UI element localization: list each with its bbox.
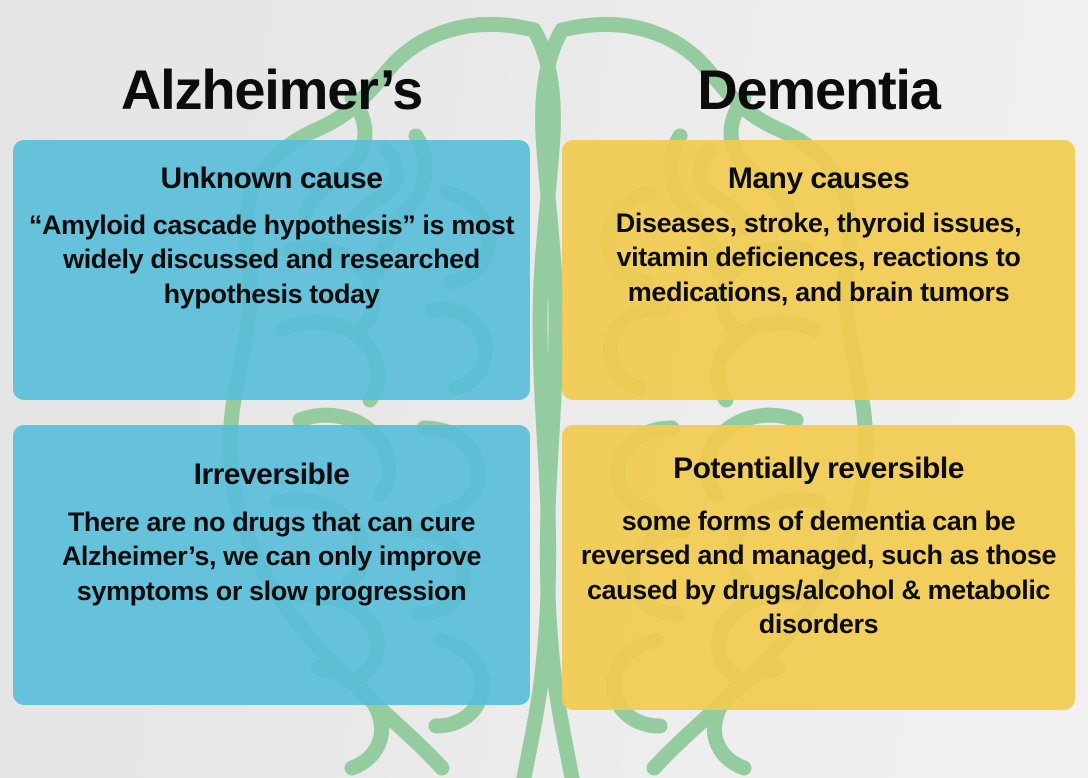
card-body: some forms of dementia can be reversed a…: [576, 504, 1061, 642]
card-dementia-causes: Many causes Diseases, stroke, thyroid is…: [562, 140, 1075, 400]
card-heading: Potentially reversible: [576, 452, 1061, 486]
page-title-dementia: Dementia: [562, 62, 1075, 118]
card-body: Diseases, stroke, thyroid issues, vitami…: [576, 206, 1061, 310]
card-alzheimers-cause: Unknown cause “Amyloid cascade hypothesi…: [13, 140, 530, 400]
page-title-alzheimers: Alzheimer’s: [13, 62, 530, 118]
card-alzheimers-irreversible: Irreversible There are no drugs that can…: [13, 425, 530, 705]
card-body: There are no drugs that can cure Alzheim…: [27, 505, 516, 609]
card-heading: Irreversible: [27, 458, 516, 492]
card-heading: Many causes: [576, 162, 1061, 196]
infographic-root: Alzheimer’s Dementia Unknown cause “Amyl…: [0, 0, 1088, 778]
card-dementia-reversible: Potentially reversible some forms of dem…: [562, 425, 1075, 710]
card-body: “Amyloid cascade hypothesis” is most wid…: [27, 208, 516, 312]
card-heading: Unknown cause: [27, 162, 516, 196]
